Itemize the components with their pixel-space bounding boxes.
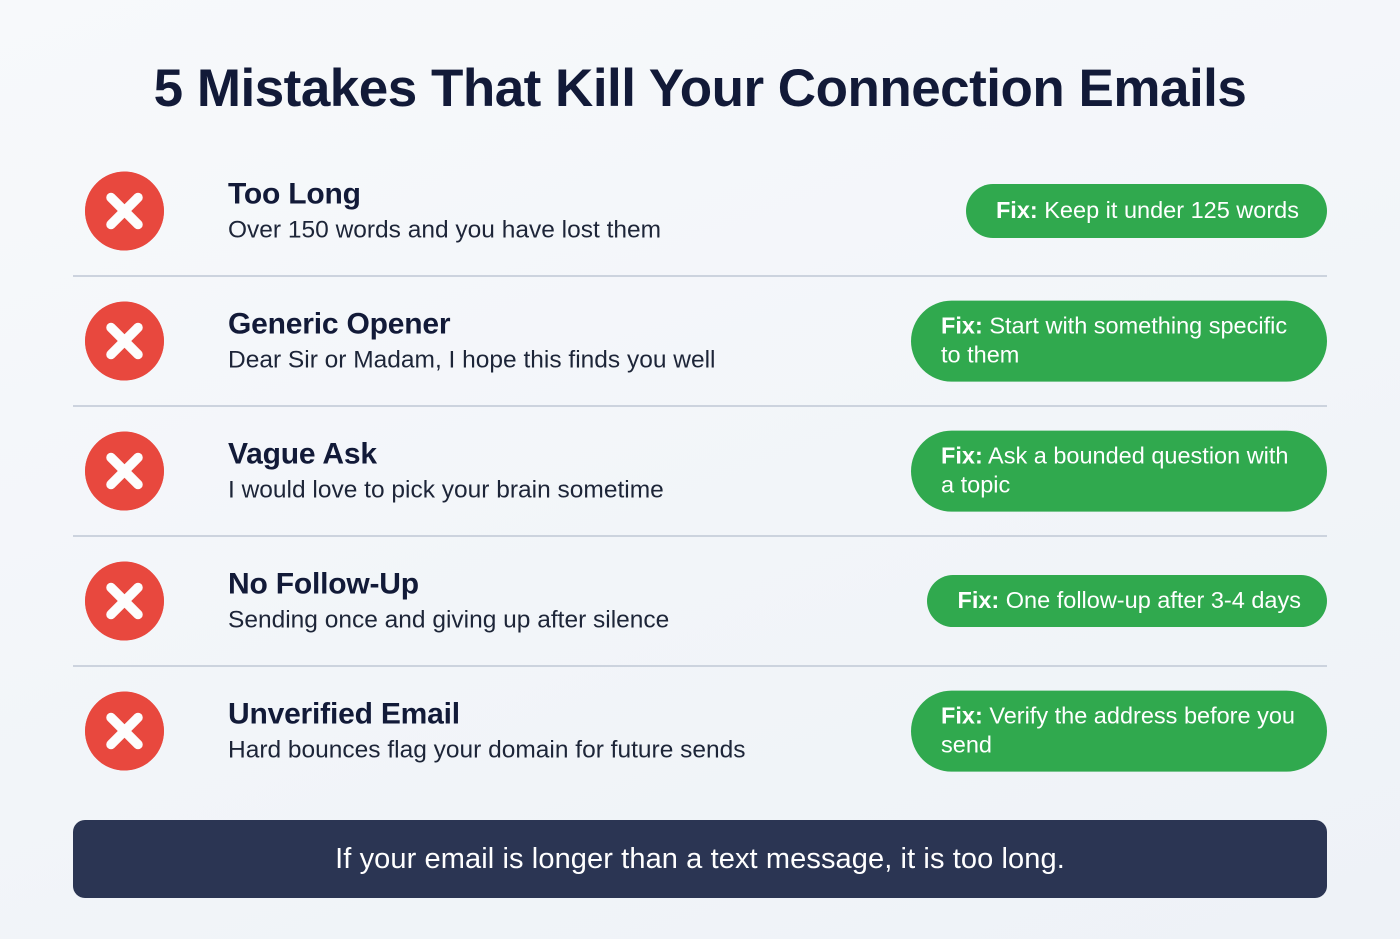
- x-circle-icon: [85, 172, 164, 251]
- list-item: Vague Ask I would love to pick your brai…: [0, 406, 1400, 536]
- list-item: Too Long Over 150 words and you have los…: [0, 146, 1400, 276]
- mistake-heading: No Follow-Up: [228, 567, 888, 602]
- row-divider: [73, 275, 1327, 277]
- x-circle-icon: [85, 302, 164, 381]
- fix-text: Keep it under 125 words: [1044, 197, 1299, 223]
- fix-text: Ask a bounded question with a topic: [941, 443, 1289, 498]
- row-divider: [73, 405, 1327, 407]
- fix-badge: Fix: Ask a bounded question with a topic: [911, 431, 1327, 512]
- fix-label: Fix:: [941, 443, 983, 469]
- mistake-heading: Too Long: [228, 177, 888, 212]
- mistake-description: Hard bounces flag your domain for future…: [228, 736, 888, 765]
- fix-label: Fix:: [957, 587, 999, 613]
- fix-badge: Fix: Verify the address before you send: [911, 691, 1327, 772]
- page-title: 5 Mistakes That Kill Your Connection Ema…: [0, 58, 1400, 119]
- infographic-page: 5 Mistakes That Kill Your Connection Ema…: [0, 0, 1400, 939]
- fix-badge: Fix: Start with something specific to th…: [911, 301, 1327, 382]
- mistake-text-block: Vague Ask I would love to pick your brai…: [228, 437, 888, 506]
- x-circle-icon: [85, 562, 164, 641]
- mistake-heading: Unverified Email: [228, 697, 888, 732]
- mistake-heading: Generic Opener: [228, 307, 888, 342]
- fix-badge: Fix: Keep it under 125 words: [966, 184, 1327, 238]
- fix-label: Fix:: [996, 197, 1038, 223]
- mistakes-list: Too Long Over 150 words and you have los…: [0, 146, 1400, 796]
- x-circle-icon: [85, 692, 164, 771]
- fix-badge: Fix: One follow-up after 3-4 days: [927, 575, 1327, 627]
- fix-text: Verify the address before you send: [941, 703, 1295, 758]
- x-circle-icon: [85, 432, 164, 511]
- mistake-text-block: No Follow-Up Sending once and giving up …: [228, 567, 888, 636]
- mistake-text-block: Too Long Over 150 words and you have los…: [228, 177, 888, 246]
- fix-text: Start with something specific to them: [941, 313, 1287, 368]
- footer-banner: If your email is longer than a text mess…: [73, 820, 1327, 898]
- fix-label: Fix:: [941, 703, 983, 729]
- mistake-text-block: Generic Opener Dear Sir or Madam, I hope…: [228, 307, 888, 376]
- fix-label: Fix:: [941, 313, 983, 339]
- mistake-heading: Vague Ask: [228, 437, 888, 472]
- row-divider: [73, 535, 1327, 537]
- mistake-description: Sending once and giving up after silence: [228, 606, 888, 635]
- fix-text: One follow-up after 3-4 days: [1006, 587, 1301, 613]
- list-item: Generic Opener Dear Sir or Madam, I hope…: [0, 276, 1400, 406]
- mistake-description: Over 150 words and you have lost them: [228, 216, 888, 245]
- row-divider: [73, 665, 1327, 667]
- list-item: Unverified Email Hard bounces flag your …: [0, 666, 1400, 796]
- mistake-description: Dear Sir or Madam, I hope this finds you…: [228, 346, 888, 375]
- mistake-description: I would love to pick your brain sometime: [228, 476, 888, 505]
- mistake-text-block: Unverified Email Hard bounces flag your …: [228, 697, 888, 766]
- list-item: No Follow-Up Sending once and giving up …: [0, 536, 1400, 666]
- footer-text: If your email is longer than a text mess…: [335, 843, 1065, 876]
